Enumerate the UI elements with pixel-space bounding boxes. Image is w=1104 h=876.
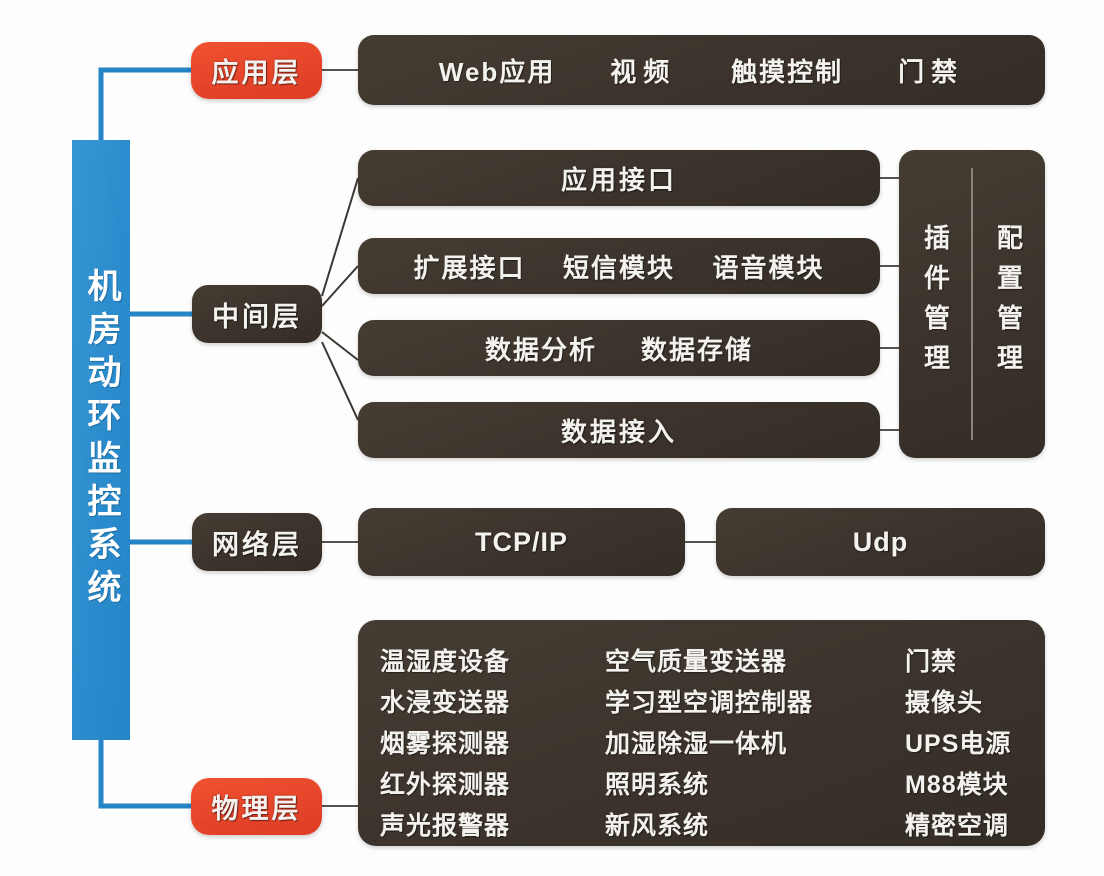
management-divider: [971, 168, 973, 440]
device-item[interactable]: 照明系统: [605, 767, 905, 803]
middle-item-sms-module[interactable]: 短信模块: [563, 248, 675, 285]
management-plugin-text: 插件管理: [923, 224, 949, 384]
app-item-touch-control[interactable]: 触摸控制: [731, 52, 843, 89]
layer-label-network[interactable]: 网络层: [192, 513, 322, 571]
middle-item-data-access[interactable]: 数据接入: [561, 412, 677, 449]
wire-spine-to-physical: [101, 740, 191, 806]
device-item[interactable]: 精密空调: [905, 808, 1045, 844]
app-item-video[interactable]: 视频: [610, 52, 676, 89]
device-item[interactable]: 温湿度设备: [380, 644, 605, 680]
system-spine: 机房动环监控系统: [72, 140, 130, 740]
management-column-plugin[interactable]: 插件管理: [899, 150, 972, 458]
management-panel[interactable]: 插件管理 配置管理: [899, 150, 1045, 458]
layer-label-application-text: 应用层: [212, 51, 302, 90]
architecture-diagram: 机房动环监控系统 应用层 Web应用 视频 触摸控制 门禁 中间层 应用接口 扩…: [0, 0, 1104, 876]
app-item-access-control[interactable]: 门禁: [898, 52, 964, 89]
middle-item-ext-interface[interactable]: 扩展接口: [413, 248, 525, 285]
network-item-udp[interactable]: Udp: [716, 508, 1045, 576]
wire-middle-to-row1: [322, 178, 358, 296]
physical-devices-grid: 温湿度设备 空气质量变送器 门禁 水浸变送器 学习型空调控制器 摄像头 烟雾探测…: [358, 638, 1045, 844]
middle-item-app-interface[interactable]: 应用接口: [561, 160, 677, 197]
device-item[interactable]: 声光报警器: [380, 808, 605, 844]
management-config-text: 配置管理: [996, 224, 1022, 384]
management-column-config[interactable]: 配置管理: [972, 150, 1045, 458]
device-item[interactable]: UPS电源: [905, 726, 1045, 762]
middle-item-data-analysis[interactable]: 数据分析: [485, 330, 597, 367]
middle-item-voice-module[interactable]: 语音模块: [712, 248, 824, 285]
layer-label-middle-text: 中间层: [212, 295, 302, 334]
device-item[interactable]: 新风系统: [605, 808, 905, 844]
application-items-bar[interactable]: Web应用 视频 触摸控制 门禁: [358, 35, 1045, 105]
middle-row-api[interactable]: 应用接口: [358, 150, 880, 206]
device-item[interactable]: 空气质量变送器: [605, 644, 905, 680]
wire-spine-to-application: [101, 70, 191, 140]
device-item[interactable]: 学习型空调控制器: [605, 685, 905, 721]
physical-devices-box[interactable]: 温湿度设备 空气质量变送器 门禁 水浸变送器 学习型空调控制器 摄像头 烟雾探测…: [358, 620, 1045, 846]
network-item-tcpip-text: TCP/IP: [475, 527, 568, 558]
layer-label-network-text: 网络层: [212, 523, 302, 562]
layer-label-physical-text: 物理层: [212, 787, 302, 826]
system-title: 机房动环监控系统: [84, 268, 118, 612]
device-item[interactable]: 红外探测器: [380, 767, 605, 803]
device-item[interactable]: 加湿除湿一体机: [605, 726, 905, 762]
network-item-udp-text: Udp: [853, 527, 908, 558]
device-item[interactable]: 烟雾探测器: [380, 726, 605, 762]
device-item[interactable]: 门禁: [905, 644, 1045, 680]
middle-item-data-storage[interactable]: 数据存储: [641, 330, 753, 367]
middle-row-ingest[interactable]: 数据接入: [358, 402, 880, 458]
wire-middle-to-row3: [322, 332, 358, 360]
network-item-tcpip[interactable]: TCP/IP: [358, 508, 685, 576]
wire-middle-to-row4: [322, 342, 358, 420]
device-item[interactable]: 水浸变送器: [380, 685, 605, 721]
wire-middle-to-row2: [322, 266, 358, 306]
device-item[interactable]: M88模块: [905, 767, 1045, 803]
middle-row-modules[interactable]: 扩展接口 短信模块 语音模块: [358, 238, 880, 294]
app-item-web[interactable]: Web应用: [439, 52, 555, 89]
middle-row-data[interactable]: 数据分析 数据存储: [358, 320, 880, 376]
layer-label-application[interactable]: 应用层: [191, 42, 322, 99]
device-item[interactable]: 摄像头: [905, 685, 1045, 721]
layer-label-middle[interactable]: 中间层: [192, 285, 322, 343]
layer-label-physical[interactable]: 物理层: [191, 778, 322, 835]
